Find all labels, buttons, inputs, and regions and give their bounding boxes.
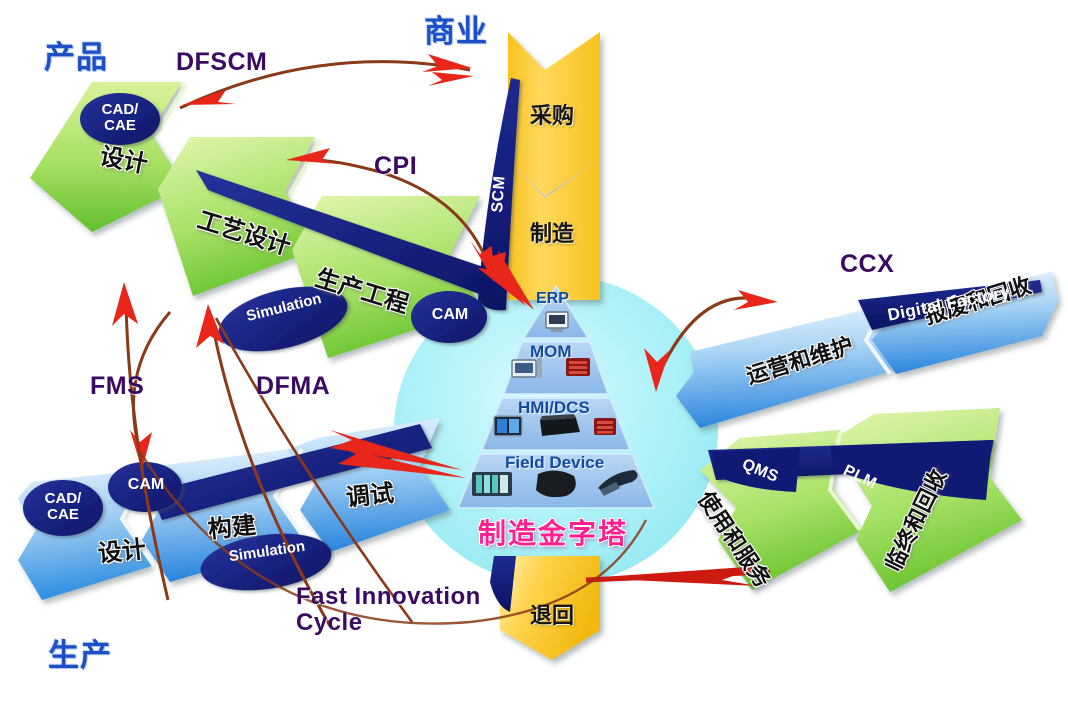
badge-cam-product[interactable] xyxy=(411,291,487,343)
service-stage-2-chevron[interactable] xyxy=(832,408,1022,592)
arrow-dfscm-head-left xyxy=(182,90,236,105)
sensor-icon xyxy=(536,470,576,497)
badge-cad-cae-product[interactable] xyxy=(80,93,160,145)
service-chevron-chain xyxy=(700,408,1022,592)
diagram-canvas: 产品 商业 生产 DFSCM CPI FMS DFMA CCX Fast Inn… xyxy=(0,0,1068,711)
diagram-vector-layer xyxy=(0,0,1068,711)
business-segment-return[interactable] xyxy=(500,556,600,660)
arrow-ccx-head-right xyxy=(734,290,778,310)
arrow-up-to-design-head xyxy=(112,282,138,326)
arrow-fms-curve xyxy=(133,312,170,452)
arrow-dfscm-curve xyxy=(180,62,470,108)
badge-cad-cae-production[interactable] xyxy=(23,480,103,536)
arrow-dfscm-head-right2 xyxy=(428,72,474,86)
